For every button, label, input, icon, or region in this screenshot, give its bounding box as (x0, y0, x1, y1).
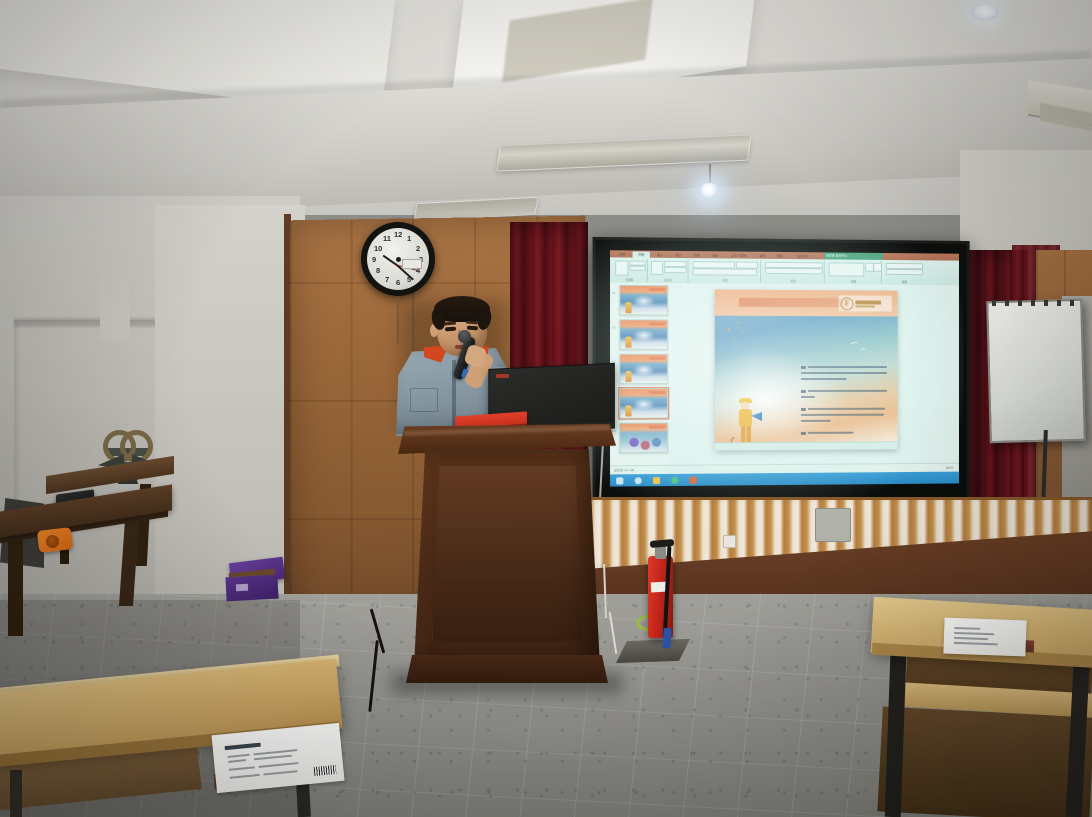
body-text-line (801, 378, 847, 380)
wall-left-pillar (100, 264, 130, 340)
logo-wordmark (855, 300, 881, 307)
ppt-tab-insert[interactable]: 插入 (652, 251, 668, 257)
slide-body: ★ ★ ★ ★ (715, 316, 898, 451)
shapes-gallery-icon[interactable] (829, 262, 865, 276)
clock-hanging-cord (397, 298, 399, 344)
clock-numeral: 6 (396, 279, 400, 287)
floor-cable-cover-plate (616, 639, 690, 663)
display-table-leg (8, 540, 23, 636)
thumbnail-title-bar (649, 425, 665, 428)
whiteboard-clips (992, 300, 1076, 306)
logo-chinese-text (855, 300, 881, 304)
font-style-buttons[interactable] (693, 268, 757, 276)
fire-extinguisher-neck (655, 546, 666, 559)
clock-center-pin (396, 257, 401, 262)
ppt-ribbon[interactable]: 剪贴板 幻灯片 字体 段落 (610, 257, 959, 286)
projection-screen[interactable]: 文件 开始 插入 设计 切换 动画 幻灯片放映 审阅 视图 会员专享 未登录 会… (593, 237, 970, 512)
document-on-right-desk[interactable] (943, 618, 1026, 657)
thumbnail-balloon (652, 438, 661, 447)
worker-body (739, 409, 752, 427)
conference-room-photo: 12 1 2 3 4 5 6 7 8 9 10 11 文件 开始 插入 设计 切… (0, 0, 1092, 817)
thumbnail-number: 12 (612, 325, 615, 329)
presenter-eye-right (467, 326, 478, 330)
clock-numeral: 8 (376, 267, 380, 275)
ppt-tab-design[interactable]: 设计 (670, 251, 686, 257)
body-text-line (801, 414, 884, 417)
reset-icon[interactable] (664, 267, 686, 273)
thumbnail-glow (633, 398, 655, 410)
thumbnail-figure (625, 302, 631, 313)
podium-front-panel (432, 466, 583, 641)
thumbnail-glow (633, 295, 655, 307)
booklet-text-line (254, 755, 292, 761)
booklet-text-line (263, 770, 297, 775)
booklet-on-desk[interactable] (211, 723, 344, 793)
booklet-text-line (228, 754, 250, 758)
body-text-line (808, 432, 854, 435)
document-text-line (954, 642, 998, 646)
explorer-icon[interactable] (653, 477, 660, 484)
ppt-tab-slideshow[interactable]: 幻灯片放映 (725, 252, 753, 258)
booklet-text-line (228, 759, 246, 763)
thumbnail-title-bar (649, 322, 665, 325)
booklet-text-line (259, 762, 299, 768)
thumbnail-figure (625, 337, 631, 348)
body-text-line (808, 408, 885, 411)
current-slide[interactable]: F ★ ★ ★ ★ (715, 290, 898, 451)
clock-numeral: 2 (416, 245, 420, 253)
thumbnail-title-bar (649, 288, 665, 291)
bird-decoration (850, 341, 859, 348)
status-zoom-level[interactable]: 100% (946, 465, 953, 469)
ribbon-group-clipboard[interactable]: 剪贴板 (612, 258, 648, 282)
align-icons[interactable] (765, 268, 823, 274)
slide-thumbnail-panel[interactable]: 11 12 13 14 (610, 283, 670, 475)
ribbon-group-drawing[interactable]: 绘图 (826, 260, 882, 283)
flipchart-whiteboard[interactable] (986, 299, 1086, 443)
ribbon-group-editing[interactable]: 编辑 (883, 261, 926, 284)
pendant-light-bulb (700, 183, 719, 199)
fire-extinguisher-nozzle (662, 628, 671, 649)
ribbon-label-font: 字体 (690, 278, 760, 283)
thumbnail-figure (625, 405, 631, 416)
ppt-tab-animation[interactable]: 动画 (707, 252, 723, 258)
slide-title (739, 298, 849, 308)
thumbnail-number: 11 (612, 291, 615, 295)
thumbnail-title-bar (649, 357, 665, 360)
ppt-tab-transition[interactable]: 切换 (689, 252, 705, 258)
ribbon-group-font[interactable]: 字体 (690, 259, 761, 283)
document-text-line (954, 627, 980, 630)
thumbnail-balloon (641, 441, 650, 450)
wall-socket[interactable] (723, 535, 736, 548)
ribbon-label-slides: 幻灯片 (649, 278, 688, 282)
star-decoration: ★ (737, 322, 740, 325)
body-item-number (801, 390, 806, 393)
slide-thumbnail[interactable] (619, 285, 668, 316)
paste-icon[interactable] (615, 260, 628, 275)
booklet-title (225, 743, 261, 750)
thumbnail-glow (633, 364, 655, 376)
clock-numeral: 7 (385, 276, 389, 284)
star-decoration: ★ (733, 338, 735, 341)
body-text-line (808, 390, 887, 392)
clock-numeral: 9 (372, 256, 376, 264)
ribbon-label-editing: 编辑 (883, 280, 926, 284)
carton-label (236, 584, 248, 592)
thumbnail-number: 15 (612, 429, 615, 433)
start-icon[interactable] (616, 477, 623, 484)
body-item-number (801, 432, 806, 435)
slide-thumbnail[interactable] (619, 354, 668, 384)
ribbon-label-drawing: 绘图 (826, 279, 881, 283)
body-text-line (801, 420, 831, 422)
slide-thumbnail-selected[interactable] (619, 388, 668, 418)
body-item-number (801, 366, 806, 369)
presenter-shirt-pocket (410, 388, 438, 412)
bird-decoration (860, 348, 867, 354)
clock-numeral: 1 (407, 235, 411, 243)
logo-mark-icon: F (841, 297, 854, 310)
wall-control-panel[interactable] (815, 508, 851, 542)
logo-latin-text (855, 305, 875, 307)
purple-carton-lower (225, 575, 278, 602)
ppt-tab-file[interactable]: 文件 (614, 251, 630, 257)
ppt-tab-review[interactable]: 审阅 (755, 252, 770, 258)
worker-head (741, 402, 749, 409)
thumbnail-title-bar (649, 391, 665, 394)
copy-icon[interactable] (629, 266, 645, 271)
ribbon-group-slides[interactable]: 幻灯片 (649, 259, 689, 283)
browser-icon[interactable] (671, 476, 678, 483)
laptop-logo (496, 374, 509, 378)
star-decoration: ★ (741, 332, 744, 335)
worker-illustration (737, 398, 755, 446)
outline-color-icon[interactable] (873, 263, 882, 272)
document-text-line (954, 632, 994, 635)
status-slide-counter: 幻灯片 14 / 28 (614, 468, 633, 472)
projected-desktop[interactable]: 文件 开始 插入 设计 切换 动画 幻灯片放映 审阅 视图 会员专享 未登录 会… (610, 250, 959, 486)
body-text-line (808, 366, 887, 368)
booklet-text-line (229, 766, 255, 771)
slide-header: F (715, 290, 898, 317)
search-icon[interactable] (635, 477, 642, 484)
front-desk-leg (10, 770, 22, 817)
orange-valve-bore (46, 535, 59, 548)
podium-base (406, 655, 608, 683)
clock-date-window (402, 259, 422, 269)
body-item-number (801, 408, 806, 411)
company-logo: F (839, 295, 892, 311)
clock-numeral: 10 (374, 245, 382, 253)
wps-icon[interactable] (690, 476, 697, 483)
thumbnail-figure (625, 371, 631, 382)
slide-thumbnail[interactable] (619, 422, 668, 453)
thumbnail-glow (633, 329, 655, 341)
ribbon-group-paragraph[interactable]: 段落 (762, 260, 825, 284)
windows-taskbar[interactable] (610, 472, 959, 487)
clock-numeral: 11 (383, 235, 391, 243)
ppt-tab-home[interactable]: 开始 (633, 251, 650, 257)
clock-numeral: 12 (394, 231, 402, 239)
ribbon-label-clipboard: 剪贴板 (612, 278, 647, 282)
star-decoration: ★ (727, 328, 731, 332)
ppt-tab-member[interactable]: 会员专享 (790, 253, 816, 259)
ceiling-downlight-right (971, 4, 999, 20)
document-text-line (954, 637, 988, 640)
front-desk-right-lower-body (877, 707, 1092, 817)
thumbnail-balloon (629, 438, 638, 447)
ppt-tab-view[interactable]: 视图 (772, 252, 787, 258)
megaphone-icon (751, 412, 762, 421)
ribbon-label-paragraph: 段落 (762, 279, 824, 283)
slide-bottom-strip (715, 441, 898, 450)
body-text-line (801, 372, 887, 374)
new-slide-icon[interactable] (651, 261, 663, 275)
body-text-line (801, 396, 815, 398)
slide-canvas[interactable]: F ★ ★ ★ ★ (669, 283, 959, 474)
replace-icon[interactable] (886, 269, 923, 275)
slide-thumbnail[interactable] (619, 319, 668, 350)
booklet-text-line (230, 774, 260, 779)
